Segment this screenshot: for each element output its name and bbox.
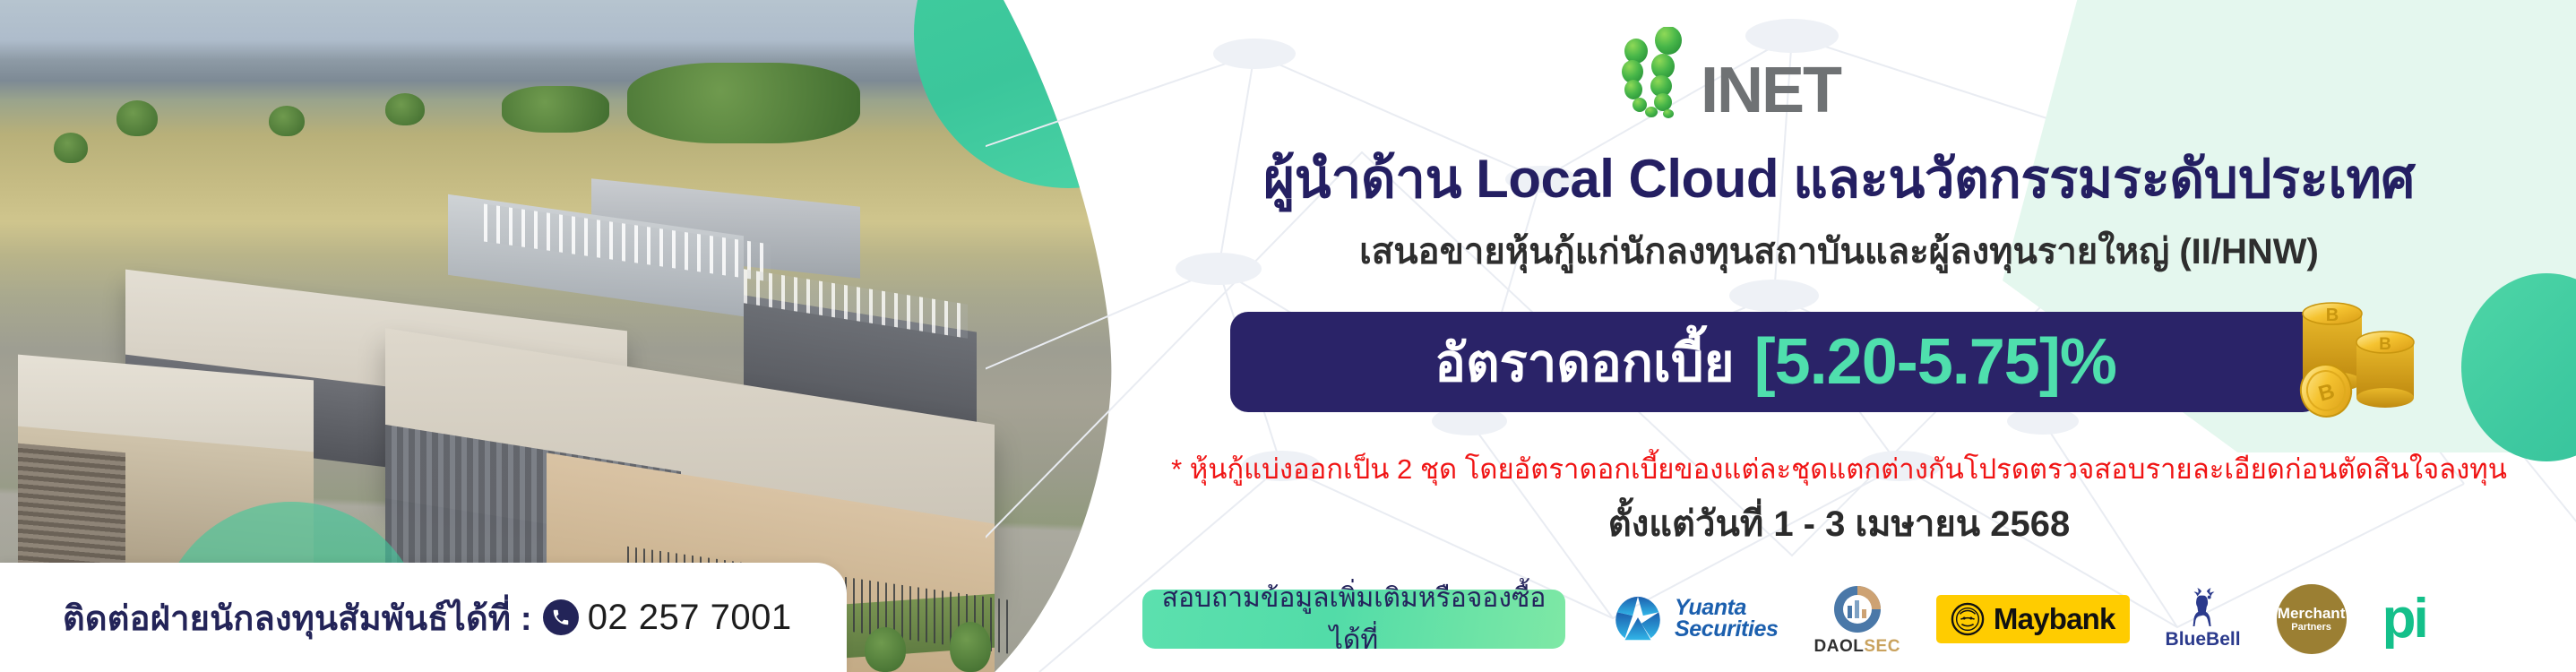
banner-root: ติดต่อฝ่ายนักลงทุนสัมพันธ์ได้ที่ : 02 25… (0, 0, 2576, 672)
daol-suffix: SEC (1864, 637, 1900, 656)
headline: ผู้นำด้าน Local Cloud และนวัตกรรมระดับปร… (1102, 136, 2576, 221)
partner-logo-yuanta[interactable]: Yuanta Securities (1612, 593, 1779, 645)
svg-text:B: B (2326, 306, 2339, 325)
forest-mass (627, 63, 860, 143)
daol-circle-chart-icon (1831, 582, 1884, 634)
forest-mass (502, 86, 609, 133)
content-column: INET ผู้นำด้าน Local Cloud และนวัตกรรมระ… (1102, 0, 2576, 672)
partner-logo-maybank[interactable]: Maybank (1936, 595, 2130, 643)
interest-rate-label: อัตราดอกเบี้ย (1434, 321, 1734, 404)
interest-rate-box: อัตราดอกเบี้ย [5.20-5.75]% (1230, 312, 2321, 412)
contact-phone-number[interactable]: 02 257 7001 (588, 598, 792, 638)
inquire-subscribe-button[interactable]: สอบถามข้อมูลเพิ่มเติมหรือจองซื้อได้ที่ (1142, 590, 1565, 649)
partner-logo-daol[interactable]: DAOLSEC (1814, 582, 1900, 657)
palm-tree (865, 627, 906, 672)
daol-wordmark: DAOLSEC (1814, 637, 1900, 657)
yuanta-line2: Securities (1675, 619, 1779, 641)
daol-name: DAOL (1814, 637, 1865, 656)
phone-icon (543, 599, 579, 635)
interest-rate-value: [5.20-5.75]% (1754, 325, 2116, 399)
bluebell-deer-icon (2184, 588, 2222, 629)
bluebell-wordmark: BlueBell (2166, 629, 2241, 650)
field-tree (385, 93, 425, 125)
yuanta-wordmark: Yuanta Securities (1675, 598, 1779, 641)
field-tree (116, 100, 158, 136)
partner-logos: Yuanta Securities DAOLSEC (1596, 582, 2576, 657)
inet-green-dots-icon (1604, 27, 1707, 118)
inet-wordmark: INET (1701, 54, 1840, 127)
field-tree (54, 133, 88, 163)
field-tree (269, 106, 305, 136)
partner-logo-pi[interactable]: pi (2382, 599, 2426, 638)
palm-tree (950, 622, 991, 672)
contact-label: ติดต่อฝ่ายนักลงทุนสัมพันธ์ได้ที่ : (63, 590, 532, 645)
yuanta-star-icon (1612, 593, 1664, 645)
investor-relations-contact[interactable]: ติดต่อฝ่ายนักลงทุนสัมพันธ์ได้ที่ : 02 25… (0, 563, 847, 672)
partner-logo-bluebell[interactable]: BlueBell (2166, 588, 2241, 650)
maybank-wordmark: Maybank (1994, 602, 2115, 636)
svg-text:B: B (2379, 335, 2391, 354)
cta-and-partners-row: สอบถามข้อมูลเพิ่มเติมหรือจองซื้อได้ที่ (1142, 584, 2576, 654)
merchant-line2: Partners (2291, 622, 2331, 633)
maybank-tiger-icon (1951, 602, 1985, 636)
offering-date-range: ตั้งแต่วันที่ 1 - 3 เมษายน 2568 (1102, 495, 2576, 552)
merchant-line1: Merchant (2278, 606, 2346, 622)
disclaimer-note: * หุ้นกู้แบ่งออกเป็น 2 ชุด โดยอัตราดอกเบ… (1102, 446, 2576, 491)
partner-logo-merchant-partners[interactable]: Merchant Partners (2277, 584, 2347, 654)
subheadline: เสนอขายหุ้นกู้แก่นักลงทุนสถาบันและผู้ลงท… (1102, 222, 2576, 280)
inet-logo: INET (1604, 20, 1962, 118)
gold-coin-stack-icon: B B B (2283, 287, 2444, 421)
